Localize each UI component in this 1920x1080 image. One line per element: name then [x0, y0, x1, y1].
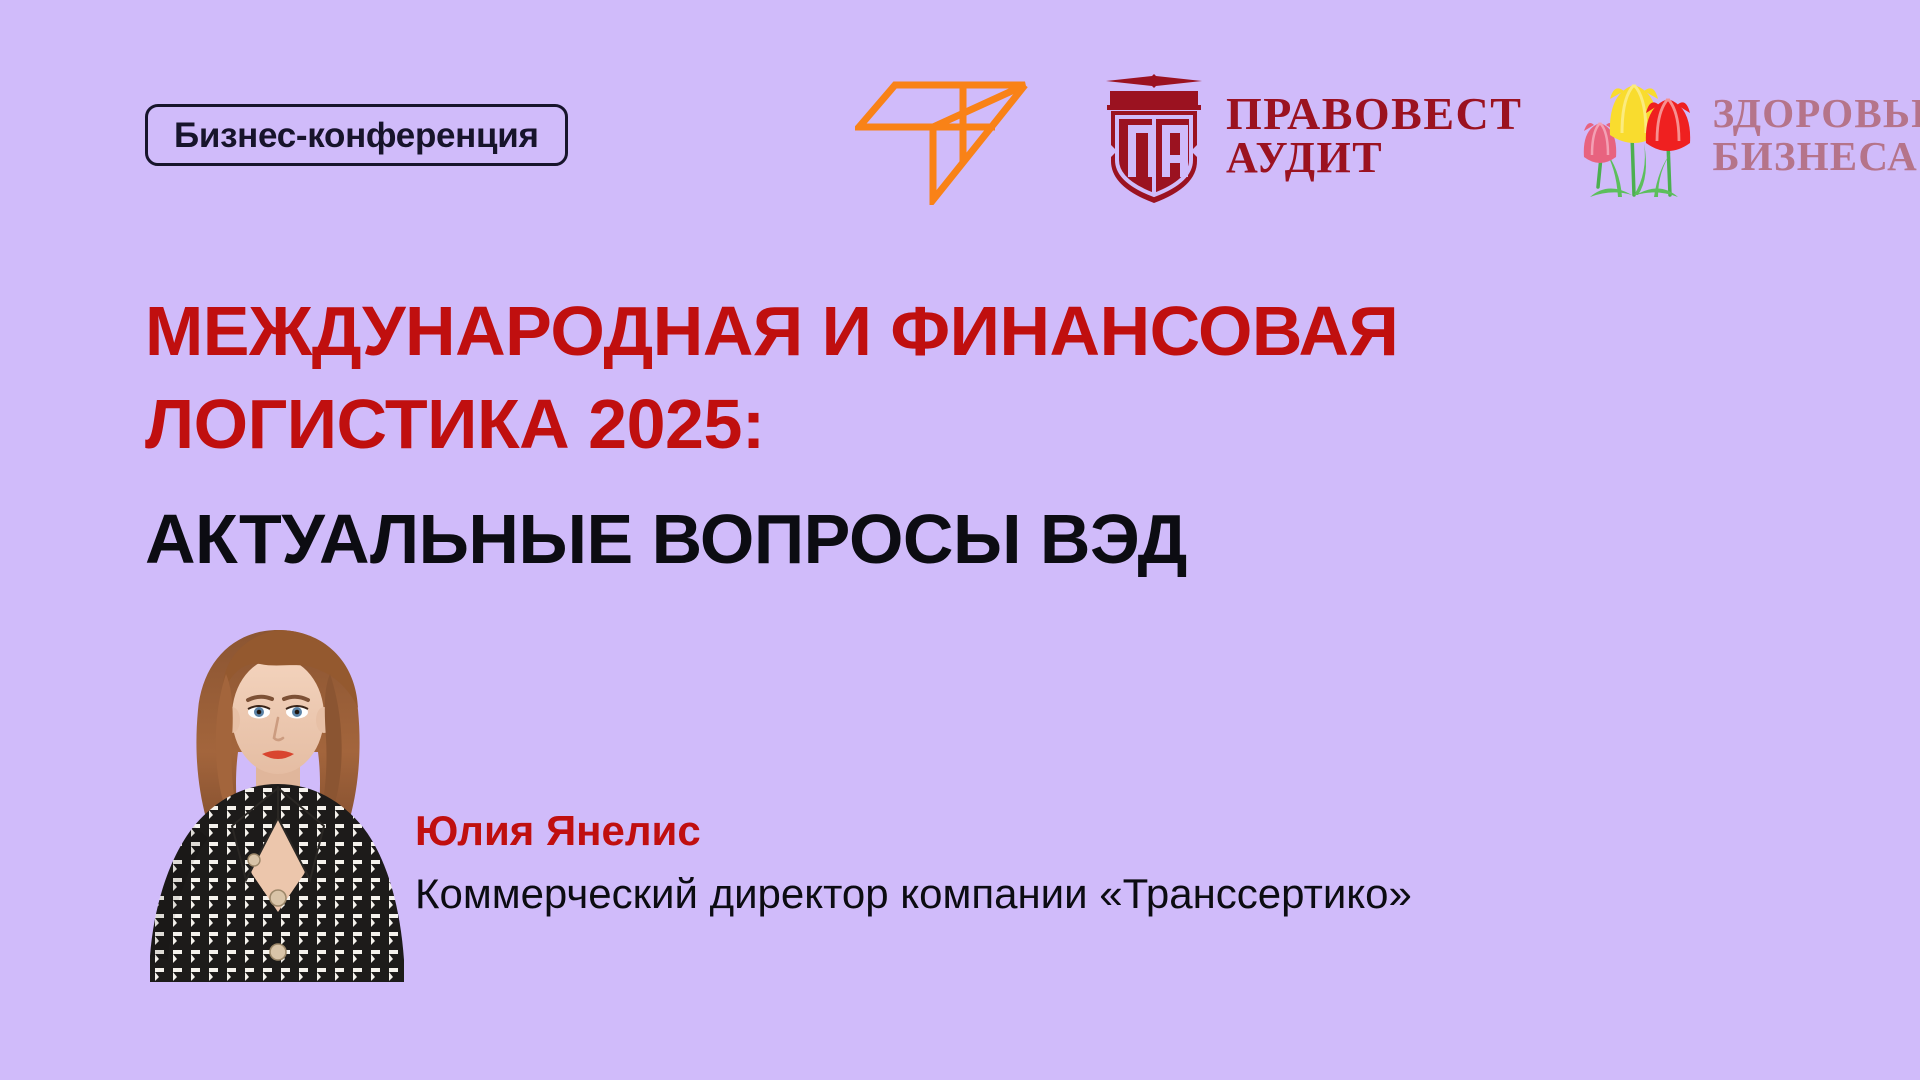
speaker-name: Юлия Янелис: [415, 808, 1815, 854]
conference-type-label: Бизнес-конференция: [174, 118, 539, 153]
title-line-3: АКТУАЛЬНЫЕ ВОПРОСЫ ВЭД: [145, 493, 1845, 586]
pravovest-line-2: АУДИТ: [1226, 136, 1522, 179]
conference-title-slide: Бизнес-конференция: [0, 0, 1920, 1080]
eye-left: [248, 706, 270, 719]
pravovest-line-1: ПРАВОВЕСТ: [1226, 91, 1522, 136]
partner-logo-row: ПРАВОВЕСТ АУДИТ: [855, 60, 1920, 210]
pravovest-wordmark: ПРАВОВЕСТ АУДИТ: [1226, 91, 1522, 179]
eye-right: [286, 706, 308, 719]
slide-title: МЕЖДУНАРОДНАЯ И ФИНАНСОВАЯ ЛОГИСТИКА 202…: [145, 285, 1845, 586]
speaker-info: Юлия Янелис Коммерческий директор компан…: [415, 808, 1815, 918]
speaker-role: Коммерческий директор компании «Транссер…: [415, 870, 1815, 918]
speaker-portrait-photo: [128, 612, 428, 982]
logo-geometric-mark: [855, 60, 1030, 210]
shield-pa-emblem-icon: [1098, 65, 1210, 205]
conference-type-badge: Бизнес-конференция: [145, 104, 568, 166]
speaker-portrait-illustration: [128, 612, 428, 982]
logo-pravovest-audit: ПРАВОВЕСТ АУДИТ: [1098, 60, 1522, 210]
zdorovie-line-1: ЗДОРОВЬЕ: [1712, 92, 1920, 135]
orange-geometric-logo-icon: [855, 65, 1030, 205]
zdorovie-line-2: БИЗНЕСА: [1712, 135, 1920, 178]
logo-zdorovie-biznesa: ЗДОРОВЬЕ БИЗНЕСА: [1574, 60, 1920, 210]
three-tulips-icon: [1574, 69, 1702, 201]
title-line-2: ЛОГИСТИКА 2025:: [145, 378, 1845, 471]
zdorovie-wordmark: ЗДОРОВЬЕ БИЗНЕСА: [1712, 92, 1920, 177]
title-line-1: МЕЖДУНАРОДНАЯ И ФИНАНСОВАЯ: [145, 285, 1845, 378]
